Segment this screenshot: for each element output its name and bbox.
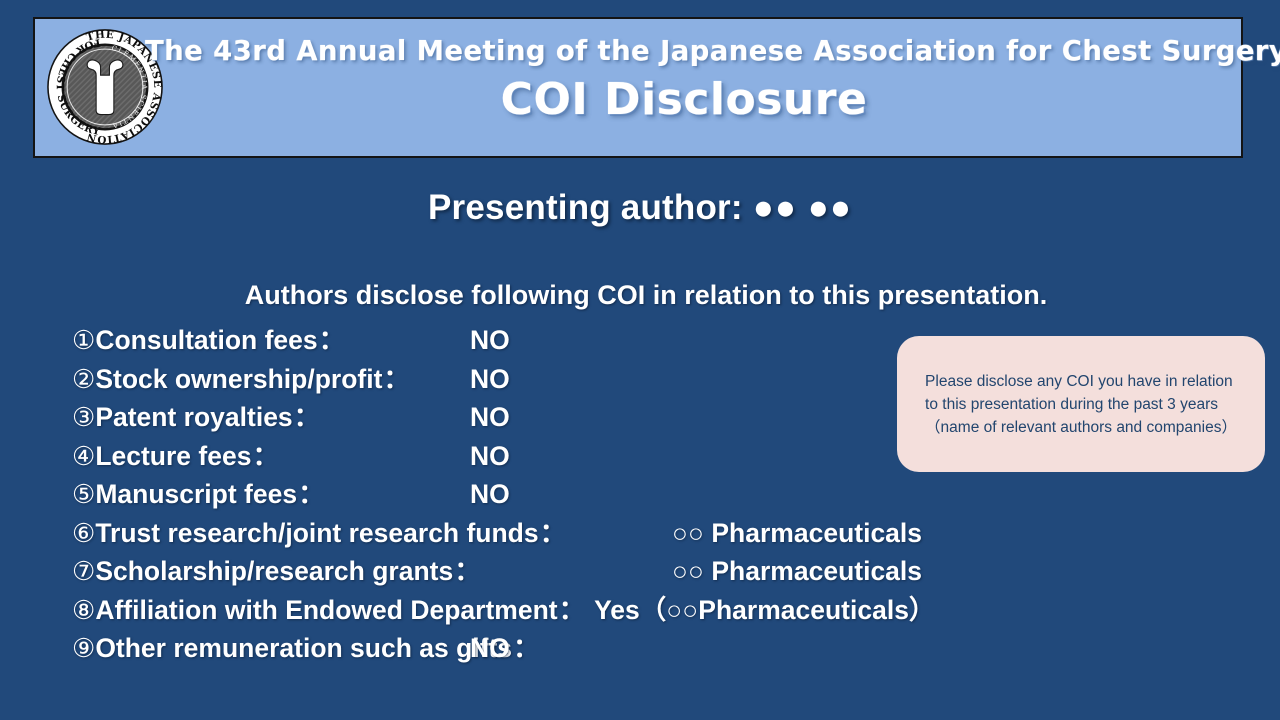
coi-item-colon: ： (512, 633, 541, 663)
coi-item-label-group: ④Lecture fees： (72, 434, 470, 473)
coi-item-number: ⑧ (72, 595, 95, 625)
coi-item-label: Trust research/joint research funds (95, 518, 538, 548)
coi-item-number: ⑤ (72, 479, 95, 509)
coi-item-label: Manuscript fees (95, 479, 297, 509)
coi-item-number: ⑦ (72, 556, 95, 586)
coi-item-colon: ： (318, 325, 347, 355)
coi-item-label: Scholarship/research grants (95, 556, 453, 586)
coi-item-colon: ： (251, 441, 280, 471)
coi-item-colon: ： (382, 364, 411, 394)
intro-statement: Authors disclose following COI in relati… (0, 280, 1280, 311)
coi-item-value: NO (470, 364, 510, 395)
coi-item-label-group: ③Patent royalties： (72, 395, 470, 434)
instruction-note-text: Please disclose any COI you have in rela… (909, 370, 1253, 439)
coi-item-colon: ： (453, 556, 482, 586)
coi-item-colon: ： (539, 518, 568, 548)
coi-item-number: ⑨ (72, 633, 95, 663)
coi-item-label-group: ⑤Manuscript fees： (72, 472, 470, 511)
coi-item-label: Affiliation with Endowed Department (95, 595, 557, 625)
coi-item-label: Other remuneration such as gifts (95, 633, 512, 663)
coi-item-value: NO (470, 325, 510, 356)
coi-item-number: ③ (72, 402, 95, 432)
coi-item-label: Stock ownership/profit (95, 364, 382, 394)
header-title-block: The 43rd Annual Meeting of the Japanese … (145, 31, 1223, 129)
coi-item-value: NO (470, 633, 510, 664)
coi-item-label: Lecture fees (95, 441, 251, 471)
coi-item-value: NO (470, 441, 510, 472)
coi-item-label-group: ⑧Affiliation with Endowed Department： (72, 588, 586, 627)
coi-item-colon: ： (293, 402, 322, 432)
presenting-author-name-redacted: ●● ●● (753, 188, 852, 227)
presenting-author-line: Presenting author: ●● ●● (0, 188, 1280, 228)
coi-item-label-group: ②Stock ownership/profit： (72, 357, 470, 396)
instruction-note-box: Please disclose any COI you have in rela… (897, 336, 1265, 472)
coi-row: ⑧Affiliation with Endowed Department：Yes… (72, 588, 1252, 627)
coi-item-label-group: ⑥Trust research/joint research funds： (72, 511, 672, 550)
coi-row: ⑦Scholarship/research grants：○○ Pharmace… (72, 549, 1252, 588)
coi-item-number: ① (72, 325, 95, 355)
coi-item-colon: ： (297, 479, 326, 509)
coi-item-label-group: ⑨Other remuneration such as gifts： (72, 626, 470, 665)
meeting-title: The 43rd Annual Meeting of the Japanese … (145, 31, 1223, 71)
coi-item-value: Yes（○○Pharmaceuticals） (586, 588, 935, 627)
coi-item-number: ⑥ (72, 518, 95, 548)
coi-item-colon: ： (558, 595, 587, 625)
header-band: THE JAPANESE ASSOCIATION FOR CHEST SURGE… (33, 17, 1243, 158)
coi-row: ⑨Other remuneration such as gifts：NO (72, 626, 1252, 665)
coi-item-label: Patent royalties (95, 402, 292, 432)
coi-item-label-group: ①Consultation fees： (72, 318, 470, 357)
slide-title: COI Disclosure (145, 71, 1223, 129)
coi-item-value: NO (470, 479, 510, 510)
coi-row: ⑤Manuscript fees：NO (72, 472, 1252, 511)
coi-item-number: ④ (72, 441, 95, 471)
coi-disclosure-slide: THE JAPANESE ASSOCIATION FOR CHEST SURGE… (0, 0, 1280, 720)
coi-item-value: ○○ Pharmaceuticals (672, 518, 922, 549)
coi-item-value: NO (470, 402, 510, 433)
coi-item-value: ○○ Pharmaceuticals (672, 556, 922, 587)
coi-item-label-group: ⑦Scholarship/research grants： (72, 549, 672, 588)
coi-row: ⑥Trust research/joint research funds：○○ … (72, 511, 1252, 550)
coi-item-label: Consultation fees (95, 325, 317, 355)
coi-item-number: ② (72, 364, 95, 394)
presenting-author-label: Presenting author: (428, 188, 743, 227)
